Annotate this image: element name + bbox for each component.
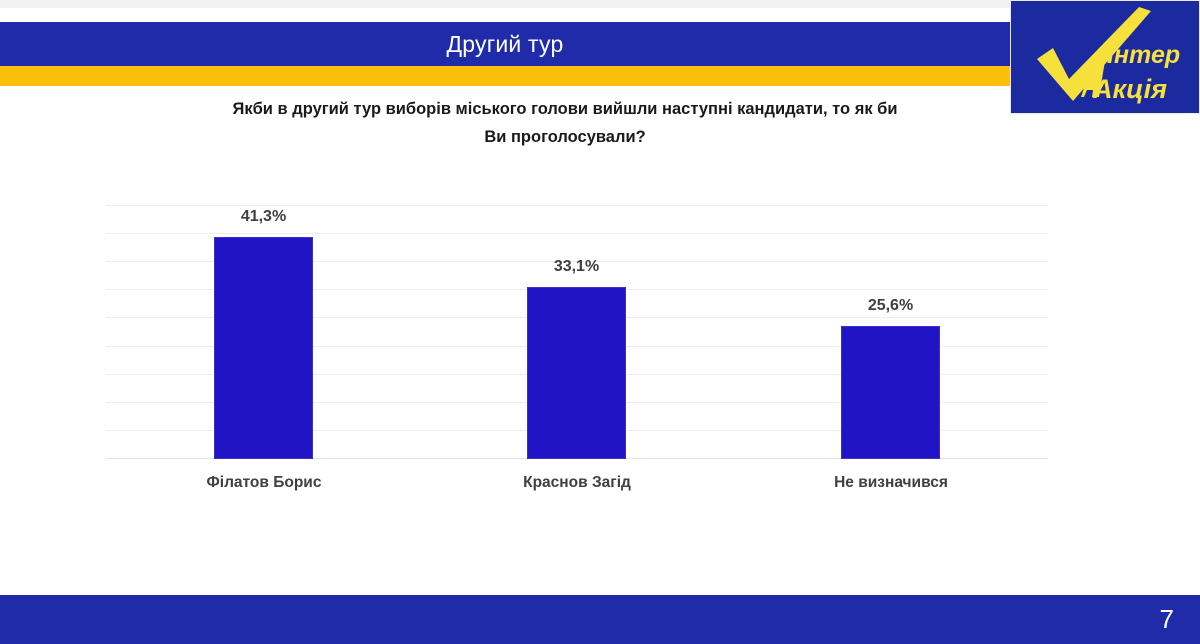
category-label-krasnov: Краснов Загід (477, 474, 677, 492)
page-number: 7 (1160, 595, 1174, 644)
survey-question: Якби в другий тур виборів міського голов… (100, 95, 1030, 151)
logo-graphic: Інтер Акція (1011, 1, 1199, 113)
category-label-filatov: Філатов Борис (164, 474, 364, 492)
bar-krasnov[interactable] (527, 287, 626, 459)
interaktsiya-logo: Інтер Акція (1010, 0, 1200, 114)
bar-filatov[interactable] (214, 237, 313, 459)
question-line-2: Ви проголосували? (100, 123, 1030, 151)
bar-value-label: 41,3% (214, 208, 313, 226)
bar-value-label: 25,6% (841, 297, 940, 315)
gridline (106, 233, 1048, 234)
header-yellow-band (0, 66, 1010, 86)
bar-undecided[interactable] (841, 326, 940, 459)
page-title: Другий тур (0, 22, 1010, 66)
logo-word-top: Інтер (1107, 41, 1180, 69)
logo-word-bottom: Акція (1092, 74, 1167, 104)
footer-bar (0, 595, 1200, 644)
plot-area (106, 205, 1048, 459)
category-label-undecided: Не визначився (791, 474, 991, 492)
gridline (106, 205, 1048, 206)
bar-chart: 41,3% 33,1% 25,6% Філатов Борис Краснов … (106, 196, 1048, 506)
slide: Другий тур Інтер Акція Якби в другий тур… (0, 0, 1200, 644)
bar-value-label: 33,1% (527, 258, 626, 276)
question-line-1: Якби в другий тур виборів міського голов… (100, 95, 1030, 123)
